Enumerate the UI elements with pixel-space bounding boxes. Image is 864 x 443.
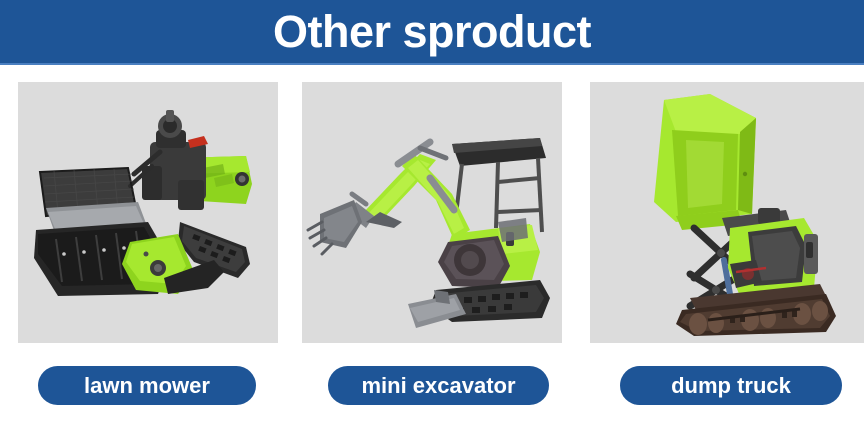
mini-excavator-photo [302,82,562,343]
product-card-row [0,82,864,343]
header-banner: Other sproduct [0,0,864,65]
product-button-mini-excavator[interactable]: mini excavator [328,366,549,405]
product-button-dump-truck[interactable]: dump truck [620,366,842,405]
product-button-lawn-mower[interactable]: lawn mower [38,366,256,405]
product-card-lawn-mower[interactable] [18,82,278,343]
dump-truck-photo [590,82,864,343]
product-card-mini-excavator[interactable] [302,82,562,343]
product-card-dump-truck[interactable] [590,82,864,343]
lawn-mower-photo [18,82,278,343]
page-title: Other sproduct [0,0,864,63]
product-button-row: lawn mower mini excavator dump truck [0,366,864,406]
